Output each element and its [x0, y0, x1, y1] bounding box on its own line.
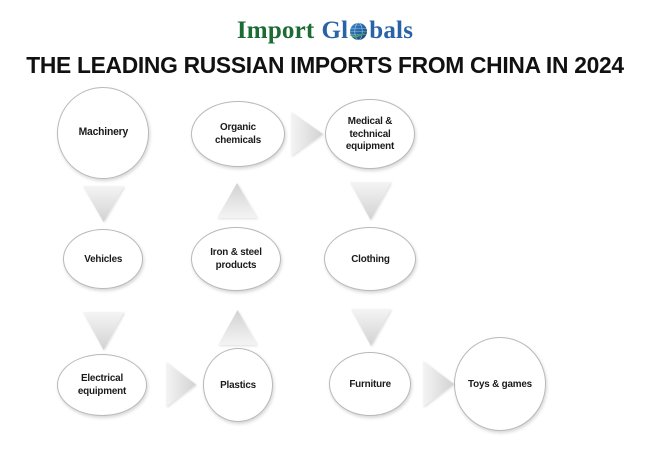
node-electrical[interactable]: Electrical equipment — [57, 354, 147, 416]
arrow-right-icon — [166, 362, 196, 407]
node-label: Clothing — [345, 253, 395, 266]
node-medical[interactable]: Medical & technical equipment — [325, 99, 415, 169]
arrow-down-icon — [83, 186, 124, 222]
flow-diagram: MachineryOrganic chemicalsMedical & tech… — [0, 0, 650, 450]
arrow-down-icon — [83, 312, 124, 350]
arrow-down-icon — [351, 309, 391, 346]
node-label: Toys & games — [462, 378, 537, 391]
node-clothing[interactable]: Clothing — [324, 227, 416, 291]
arrow-down-icon — [350, 182, 391, 220]
node-iron[interactable]: Iron & steel products — [191, 227, 281, 291]
node-vehicles[interactable]: Vehicles — [63, 229, 143, 289]
node-label: Electrical equipment — [61, 372, 144, 398]
node-machinery[interactable]: Machinery — [57, 87, 149, 179]
node-label: Machinery — [73, 126, 134, 139]
node-furniture[interactable]: Furniture — [329, 352, 411, 416]
arrow-right-icon — [423, 361, 454, 407]
infographic-page: ImportGl b — [0, 0, 650, 450]
node-label: Plastics — [214, 379, 261, 392]
node-organic[interactable]: Organic chemicals — [191, 101, 285, 167]
node-label: Medical & technical equipment — [329, 115, 412, 153]
arrow-up-icon — [218, 310, 257, 345]
node-plastics[interactable]: Plastics — [203, 348, 273, 422]
node-toys[interactable]: Toys & games — [454, 337, 546, 431]
node-label: Vehicles — [78, 253, 127, 266]
node-label: Furniture — [344, 378, 397, 391]
node-label: Organic chemicals — [195, 121, 281, 147]
arrow-right-icon — [291, 112, 323, 156]
arrow-up-icon — [217, 183, 257, 218]
node-label: Iron & steel products — [195, 246, 278, 272]
